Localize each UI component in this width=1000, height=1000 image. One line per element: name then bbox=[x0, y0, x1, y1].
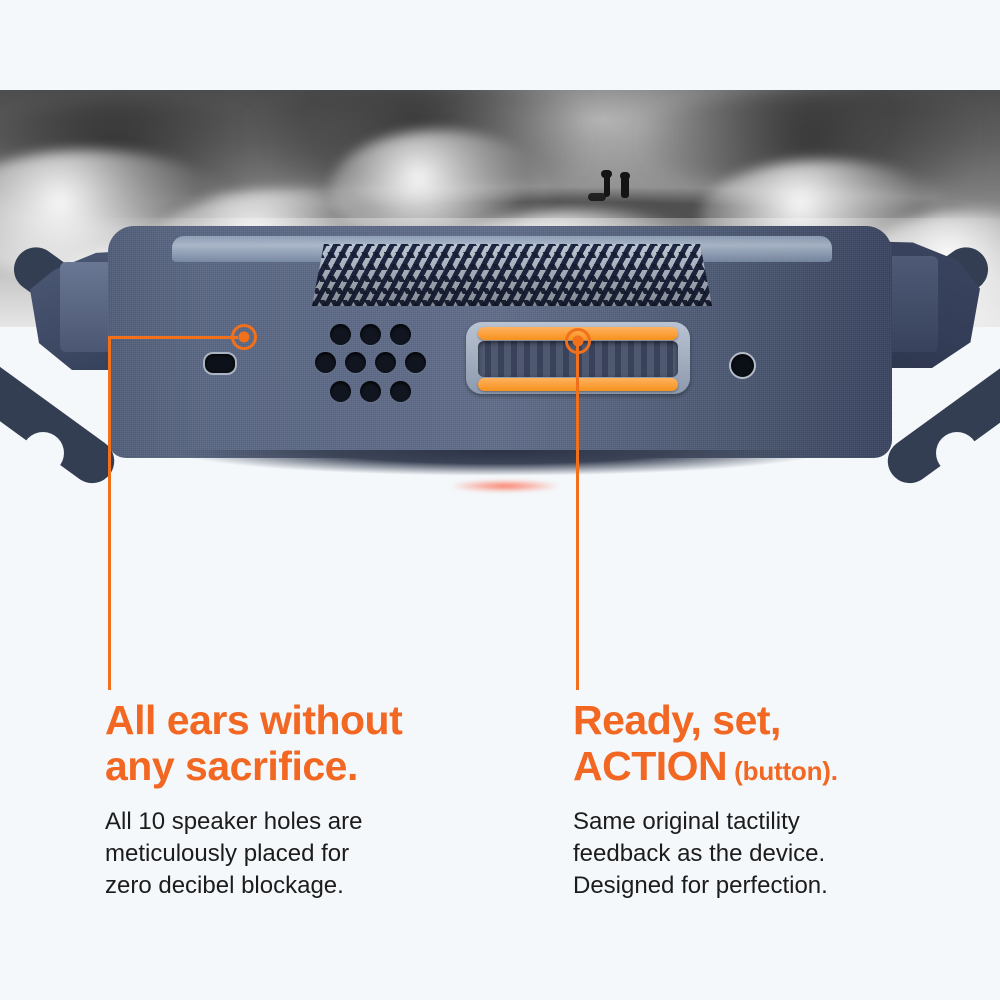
speaker-hole-grid bbox=[314, 324, 426, 406]
action-button-marker bbox=[565, 328, 591, 354]
speaker-hole bbox=[330, 381, 351, 402]
action-button-callout-line bbox=[576, 340, 579, 690]
speaker-hole bbox=[360, 381, 381, 402]
speaker-hole bbox=[375, 352, 396, 373]
strap-hole bbox=[990, 532, 1000, 574]
port-pill bbox=[203, 352, 237, 375]
speaker-callout-line-horizontal bbox=[108, 336, 238, 339]
action-button-callout-headline: Ready, set, ACTION (button). bbox=[573, 698, 973, 790]
microphone-port bbox=[729, 352, 756, 379]
strap-hole bbox=[22, 432, 64, 474]
speaker-holes-marker bbox=[231, 324, 257, 350]
product-feature-page: All ears without any sacrifice. All 10 s… bbox=[0, 0, 1000, 1000]
speaker-hole bbox=[390, 381, 411, 402]
strap-segment bbox=[879, 350, 1000, 491]
speaker-hole bbox=[330, 324, 351, 345]
corner-notch-right bbox=[884, 256, 938, 352]
action-button-callout-body: Same original tactility feedback as the … bbox=[573, 806, 973, 902]
speaker-hole bbox=[345, 352, 366, 373]
carbon-fiber-panel bbox=[312, 244, 712, 306]
speaker-callout-body: All 10 speaker holes are meticulously pl… bbox=[105, 806, 505, 902]
action-button-callout-text: Ready, set, ACTION (button). Same origin… bbox=[573, 698, 973, 902]
strap-hole bbox=[936, 432, 978, 474]
speaker-hole bbox=[405, 352, 426, 373]
strap-segment bbox=[0, 350, 123, 491]
red-reflection-glow bbox=[430, 478, 580, 494]
action-headline-suffix: (button). bbox=[727, 756, 838, 786]
speaker-hole bbox=[360, 324, 381, 345]
strap-hole bbox=[0, 532, 12, 574]
speaker-callout-line-vertical bbox=[108, 336, 111, 690]
speaker-callout-headline: All ears without any sacrifice. bbox=[105, 698, 505, 790]
speaker-hole bbox=[315, 352, 336, 373]
speaker-hole bbox=[390, 324, 411, 345]
corner-notch-left bbox=[60, 262, 112, 352]
speaker-callout-text: All ears without any sacrifice. All 10 s… bbox=[105, 698, 505, 902]
